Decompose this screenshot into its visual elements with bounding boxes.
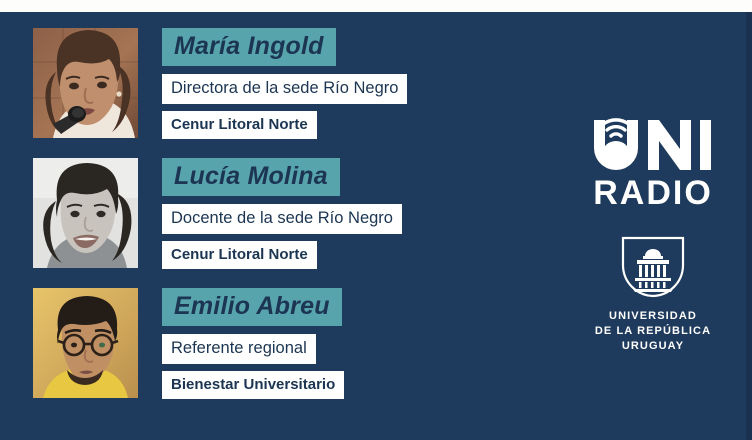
right-edge-strip [746,12,752,440]
person-name: Emilio Abreu [162,288,342,326]
avatar [33,28,138,138]
person-unit: Cenur Litoral Norte [162,111,317,139]
person-role: Docente de la sede Río Negro [162,204,402,234]
uniradio-logo: RADIO [560,112,746,210]
udelar-seal-text: UNIVERSIDAD DE LA REPÚBLICA URUGUAY [560,309,746,354]
udelar-shield-icon [560,234,746,298]
seal-line-1: UNIVERSIDAD [560,309,746,324]
uniradio-wordmark-bottom: RADIO [560,176,746,210]
udelar-seal: UNIVERSIDAD DE LA REPÚBLICA URUGUAY [560,234,746,354]
person-role: Directora de la sede Río Negro [162,74,407,104]
top-white-strip [0,0,752,12]
avatar [33,288,138,398]
seal-line-3: URUGUAY [560,339,746,354]
person-name: Lucía Molina [162,158,340,196]
person-labels: Emilio Abreu Referente regional Bienesta… [162,288,344,399]
seal-line-2: DE LA REPÚBLICA [560,324,746,339]
radio-waves-icon [604,120,629,136]
person-labels: María Ingold Directora de la sede Río Ne… [162,28,407,139]
brand-column: RADIO [560,12,746,440]
person-name: María Ingold [162,28,336,66]
person-labels: Lucía Molina Docente de la sede Río Negr… [162,158,402,269]
person-unit: Cenur Litoral Norte [162,241,317,269]
uniradio-wordmark-top [560,112,746,174]
avatar [33,158,138,268]
person-unit: Bienestar Universitario [162,371,344,399]
person-role: Referente regional [162,334,316,364]
broadcast-guest-slide: María Ingold Directora de la sede Río Ne… [0,0,752,440]
